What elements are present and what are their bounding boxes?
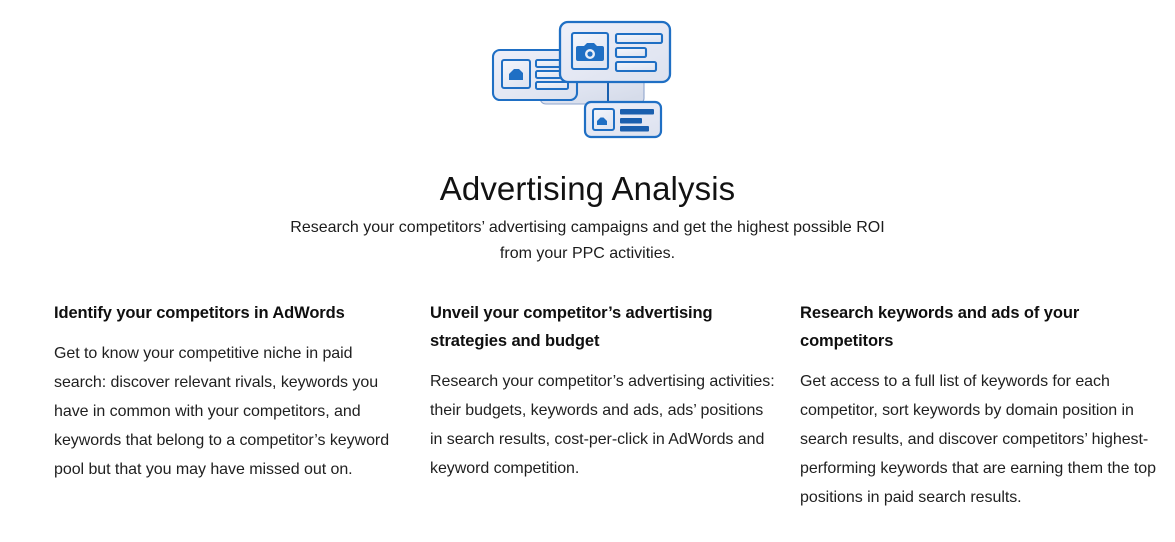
feature-body: Get access to a full list of keywords fo… [800, 367, 1167, 512]
feature-body: Get to know your competitive niche in pa… [54, 339, 403, 484]
advertising-cards-illustration [488, 18, 688, 140]
feature-column-3: Research keywords and ads of your compet… [796, 299, 1167, 512]
advertising-analysis-page: Advertising Analysis Research your compe… [0, 0, 1175, 542]
hero-illustration [0, 18, 1175, 140]
feature-heading: Identify your competitors in AdWords [54, 299, 403, 327]
feature-heading: Unveil your competitor’s advertising str… [430, 299, 778, 355]
feature-heading: Research keywords and ads of your compet… [800, 299, 1167, 355]
feature-columns: Identify your competitors in AdWords Get… [54, 299, 1167, 512]
page-subtitle: Research your competitors’ advertising c… [287, 215, 888, 267]
bottom-card-with-image-icon [585, 102, 661, 137]
feature-body: Research your competitor’s advertising a… [430, 367, 778, 483]
feature-column-2: Unveil your competitor’s advertising str… [425, 299, 796, 483]
top-card-with-camera-icon [560, 22, 670, 82]
page-title: Advertising Analysis [0, 168, 1175, 210]
feature-column-1: Identify your competitors in AdWords Get… [54, 299, 425, 484]
